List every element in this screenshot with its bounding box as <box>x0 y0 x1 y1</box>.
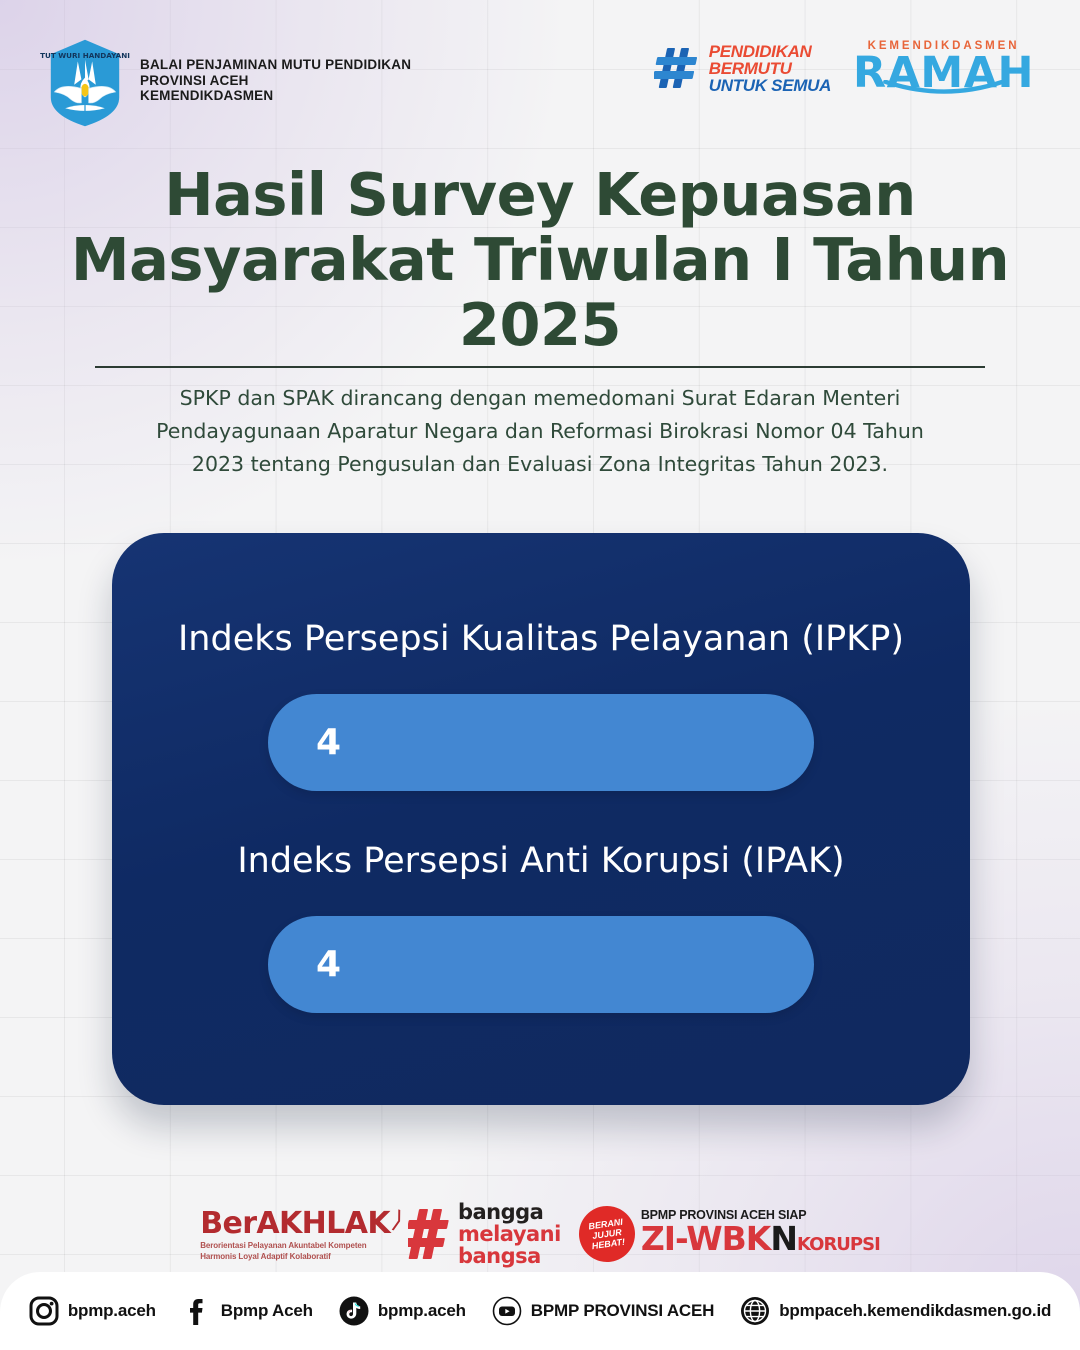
social-item-website[interactable]: bpmpaceh.kemendikdasmen.go.id <box>740 1296 1051 1326</box>
zi-wbk-wordmark: ZI-WBKNKORUPSI <box>641 1222 880 1261</box>
metric-ipak-value-pill: 4 <box>268 916 814 1013</box>
bangga-line-3: bangsa <box>458 1245 561 1267</box>
page-title: Hasil Survey Kepuasan Masyarakat Triwula… <box>0 162 1080 357</box>
social-item-facebook[interactable]: Bpmp Aceh <box>182 1296 313 1326</box>
bangga-line-1: bangga <box>458 1201 561 1223</box>
brand-logos: PENDIDIKAN BERMUTU UNTUK SEMUA KEMENDIKD… <box>654 40 1034 96</box>
metric-ipkp-value-pill: 4 <box>268 694 814 791</box>
partner-logo-strip: BerAKHLAK ⟩ Berorientasi Pelayanan Akunt… <box>0 1194 1080 1274</box>
social-label-facebook: Bpmp Aceh <box>221 1301 313 1321</box>
hashtag-icon <box>654 44 706 92</box>
pbus-line-2: BERMUTU <box>709 60 831 77</box>
instagram-icon <box>29 1296 59 1326</box>
zi-wbk-label: ZI-WBK <box>641 1219 771 1258</box>
title-divider <box>95 366 985 368</box>
results-card: Indeks Persepsi Kualitas Pelayanan (IPKP… <box>112 533 970 1105</box>
tiktok-icon <box>339 1296 369 1326</box>
facebook-icon <box>182 1296 212 1326</box>
metric-ipkp-value: 4 <box>316 722 341 763</box>
zi-wbk-no-label: N <box>770 1219 797 1258</box>
pendidikan-bermutu-untuk-semua-logo: PENDIDIKAN BERMUTU UNTUK SEMUA <box>654 43 831 94</box>
bangga-line-2: melayani <box>458 1223 561 1245</box>
social-label-youtube: BPMP PROVINSI ACEH <box>531 1301 714 1321</box>
social-item-tiktok[interactable]: bpmp.aceh <box>339 1296 466 1326</box>
pbus-line-3: UNTUK SEMUA <box>709 77 831 94</box>
berakhlak-sub-line-1: Berorientasi Pelayanan Akuntabel Kompete… <box>200 1241 390 1252</box>
header: TUT WURI HANDAYANI BALAI PENJAMINAN MUTU… <box>0 0 1080 150</box>
kemendikdasmen-ramah-logo: KEMENDIKDASMEN RAMAH <box>853 40 1034 96</box>
pbus-line-1: PENDIDIKAN <box>709 43 831 60</box>
social-footer-bar: bpmp.aceh Bpmp Aceh bpmp.aceh <box>0 1272 1080 1350</box>
metric-ipak-label: Indeks Persepsi Anti Korupsi (IPAK) <box>112 840 970 882</box>
kemdikbud-tut-wuri-handayani-logo-icon: TUT WURI HANDAYANI <box>40 38 130 128</box>
berakhlak-check-icon: ⟩ <box>388 1205 406 1235</box>
metric-ipkp: Indeks Persepsi Kualitas Pelayanan (IPKP… <box>112 618 970 791</box>
zi-wbk-text: BPMP PROVINSI ACEH SIAP ZI-WBKNKORUPSI <box>641 1208 880 1261</box>
ramah-smile-icon <box>853 80 1034 96</box>
berani-jujur-hebat-badge: BERANI JUJUR HEBAT! <box>575 1202 638 1265</box>
berakhlak-wordmark: BerAKHLAK <box>200 1206 390 1241</box>
social-item-instagram[interactable]: bpmp.aceh <box>29 1296 156 1326</box>
berakhlak-sub-line-2: Harmonis Loyal Adaptif Kolaboratif <box>200 1252 390 1263</box>
org-line-2: PROVINSI ACEH <box>140 73 411 89</box>
organization-name: BALAI PENJAMINAN MUTU PENDIDIKAN PROVINS… <box>140 57 411 104</box>
metric-ipak-value: 4 <box>316 944 341 985</box>
berakhlak-logo: BerAKHLAK ⟩ Berorientasi Pelayanan Akunt… <box>200 1206 390 1262</box>
social-item-youtube[interactable]: BPMP PROVINSI ACEH <box>492 1296 714 1326</box>
org-line-1: BALAI PENJAMINAN MUTU PENDIDIKAN <box>140 57 411 73</box>
svg-text:TUT WURI HANDAYANI: TUT WURI HANDAYANI <box>40 51 130 60</box>
zi-wbk-korupsi-label: KORUPSI <box>797 1234 880 1255</box>
hashtag-icon <box>408 1205 454 1263</box>
globe-icon <box>740 1296 770 1326</box>
social-label-tiktok: bpmp.aceh <box>378 1301 466 1321</box>
zi-wbk-logo: BERANI JUJUR HEBAT! BPMP PROVINSI ACEH S… <box>579 1206 880 1262</box>
social-label-website: bpmpaceh.kemendikdasmen.go.id <box>779 1301 1051 1321</box>
social-label-instagram: bpmp.aceh <box>68 1301 156 1321</box>
page-subtitle: SPKP dan SPAK dirancang dengan memedoman… <box>150 382 930 481</box>
youtube-icon <box>492 1296 522 1326</box>
bangga-melayani-bangsa-logo: bangga melayani bangsa <box>408 1201 561 1267</box>
org-line-3: KEMENDIKDASMEN <box>140 88 411 104</box>
metric-ipkp-label: Indeks Persepsi Kualitas Pelayanan (IPKP… <box>112 618 970 660</box>
metric-ipak: Indeks Persepsi Anti Korupsi (IPAK) 4 <box>112 840 970 1013</box>
